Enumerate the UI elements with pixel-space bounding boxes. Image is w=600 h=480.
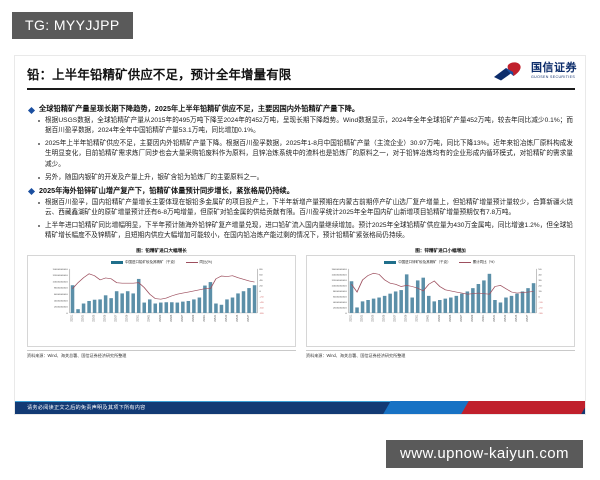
- chart-canvas: 0200000000400000000600000000800000000100…: [29, 266, 294, 340]
- svg-text:30: 30: [538, 279, 542, 281]
- chart-title: 图：铅精矿进口大幅增长: [27, 248, 296, 254]
- chart-plot-area: 中国进口铅矿砂及其精矿（千克） 同比(%) 020000000040000000…: [27, 255, 296, 347]
- svg-text:2024-11: 2024-11: [203, 314, 206, 321]
- presentation-slide: 铅：上半年铅精矿供应不足，预计全年增量有限 国信证券 GUOSEN SECURI…: [14, 55, 586, 415]
- bullet-text: 另外，随国内银矿的开发及产量上升，银矿含铅为铅炼厂的主要原料之一。: [45, 173, 263, 183]
- svg-text:40: 40: [538, 274, 542, 276]
- dot-bullet-icon: [38, 120, 40, 122]
- svg-text:2023-03: 2023-03: [92, 314, 95, 322]
- bottom-watermark: www.upnow-kaiyun.com: [386, 440, 583, 468]
- svg-text:-20: -20: [259, 296, 264, 298]
- svg-text:2024-05: 2024-05: [169, 314, 172, 322]
- logo-wordmark: 国信证券 GUOSEN SECURITIES: [531, 63, 577, 80]
- svg-text:2024-03: 2024-03: [437, 314, 440, 322]
- svg-text:800000000: 800000000: [333, 290, 347, 292]
- chart-source: 资料来源：Wind、海关总署、国信证券经济研究所整理: [306, 350, 575, 359]
- title-divider: [27, 88, 575, 90]
- svg-text:2023-11: 2023-11: [415, 314, 418, 321]
- legend-swatch-icon: [384, 261, 396, 264]
- svg-text:2024-01: 2024-01: [426, 314, 429, 322]
- dot-bullet-icon: [38, 177, 40, 179]
- svg-text:600000000: 600000000: [54, 293, 68, 295]
- svg-text:-80: -80: [259, 312, 264, 314]
- svg-text:-30: -30: [538, 312, 543, 314]
- dot-bullet-icon: [38, 202, 40, 204]
- logo-name-en: GUOSEN SECURITIES: [531, 76, 577, 80]
- svg-text:2025-03: 2025-03: [225, 314, 228, 322]
- svg-text:200000000: 200000000: [54, 306, 68, 308]
- slide-header: 铅：上半年铅精矿供应不足，预计全年增量有限 国信证券 GUOSEN SECURI…: [15, 56, 585, 94]
- bullet-text: 根据USGS数据，全球铅精矿产量从2015年的495万吨下降至2024年的452…: [45, 116, 573, 136]
- legend-swatch-icon: [459, 262, 471, 263]
- svg-text:2022-11: 2022-11: [349, 314, 352, 321]
- svg-text:2023-09: 2023-09: [404, 314, 407, 322]
- svg-text:2024-07: 2024-07: [460, 314, 463, 322]
- svg-text:80: 80: [259, 268, 263, 270]
- chart-legend: 中国进口铅矿砂及其精矿（千克） 同比(%): [29, 260, 294, 265]
- legend-item-line: 同比(%): [186, 260, 212, 265]
- svg-text:0: 0: [66, 312, 68, 314]
- bullet-primary: 2025年海外铅锌矿山增产复产下，铅精矿体量预计同步增长，紧张格局仍持续。: [29, 186, 573, 196]
- legend-item-bars: 中国进口锌矿砂及其精矿（千克）: [384, 260, 451, 265]
- svg-text:800000000: 800000000: [54, 287, 68, 289]
- chart-card-lead: 图：铅精矿进口大幅增长 中国进口铅矿砂及其精矿（千克） 同比(%) 020000…: [27, 248, 296, 359]
- bullet-text: 上半年进口铅精矿同比增幅明显，下半年预计随海外铅锌矿复产增量兑现，进口铅矿流入国…: [45, 221, 573, 241]
- bullet-text: 全球铅精矿产量呈现长期下降趋势，2025年上半年铅精矿供应不足，主要因国内外铅精…: [39, 104, 359, 114]
- dot-bullet-icon: [38, 143, 40, 145]
- diamond-bullet-icon: [28, 188, 35, 195]
- svg-text:600000000: 600000000: [333, 296, 347, 298]
- bullet-secondary: 上半年进口铅精矿同比增幅明显，下半年预计随海外铅锌矿复产增量兑现，进口铅矿流入国…: [38, 221, 573, 241]
- svg-text:200000000: 200000000: [333, 307, 347, 309]
- svg-text:2023-07: 2023-07: [393, 314, 396, 322]
- svg-text:0: 0: [538, 296, 540, 298]
- svg-text:2024-05: 2024-05: [448, 314, 451, 322]
- svg-text:2024-03: 2024-03: [158, 314, 161, 322]
- bullet-text: 根据百川盈孚，国内铅精矿产量增长主要体现在银铅多金属矿的项目投产上，下半年新增产…: [45, 198, 573, 218]
- svg-text:2023-09: 2023-09: [125, 314, 128, 322]
- legend-item-bars: 中国进口铅矿砂及其精矿（千克）: [111, 260, 178, 265]
- footer-disclaimer: 请务必阅读正文之后的免责声明及其项下所有内容: [27, 404, 146, 411]
- svg-text:20: 20: [259, 285, 263, 287]
- svg-text:2024-01: 2024-01: [147, 314, 150, 322]
- bullet-primary: 全球铅精矿产量呈现长期下降趋势，2025年上半年铅精矿供应不足，主要因国内外铅精…: [29, 104, 573, 114]
- screenshot-root: TG: MYYJJPP 铅：上半年铅精矿供应不足，预计全年增量有限 国信证券 G…: [0, 0, 600, 480]
- footer-red-shape: [461, 401, 585, 414]
- slide-footer: 请务必阅读正文之后的免责声明及其项下所有内容: [15, 401, 585, 414]
- svg-text:2025-03: 2025-03: [504, 314, 507, 322]
- svg-text:2023-05: 2023-05: [382, 314, 385, 322]
- legend-label: 中国进口锌矿砂及其精矿（千克）: [398, 260, 451, 265]
- svg-text:2024-09: 2024-09: [192, 314, 195, 322]
- bullet-secondary: 根据百川盈孚，国内铅精矿产量增长主要体现在银铅多金属矿的项目投产上，下半年新增产…: [38, 198, 573, 218]
- guosen-logo-icon: [493, 62, 527, 81]
- svg-text:2023-01: 2023-01: [360, 314, 363, 322]
- charts-row: 图：铅精矿进口大幅增长 中国进口铅矿砂及其精矿（千克） 同比(%) 020000…: [15, 244, 585, 359]
- svg-text:1400000000: 1400000000: [332, 274, 348, 276]
- page-title: 铅：上半年铅精矿供应不足，预计全年增量有限: [27, 65, 291, 83]
- svg-text:10: 10: [538, 290, 542, 292]
- svg-text:0: 0: [345, 312, 347, 314]
- chart-card-zinc: 图：锌精矿进口小幅增加 中国进口锌矿砂及其精矿（千克） 累计同比（%） 0200…: [306, 248, 575, 359]
- svg-text:20: 20: [538, 285, 542, 287]
- svg-text:-40: -40: [259, 301, 264, 303]
- bullet-secondary: 2025年上半年铅精矿供应不足，主要因内外铅精矿产量下降。根据百川盈孚数据，20…: [38, 139, 573, 169]
- diamond-bullet-icon: [28, 106, 35, 113]
- chart-canvas: 0200000000400000000600000000800000000100…: [308, 266, 573, 340]
- dot-bullet-icon: [38, 225, 40, 227]
- legend-label: 累计同比（%）: [473, 260, 497, 265]
- svg-text:2025-05: 2025-05: [236, 314, 239, 322]
- bullet-secondary: 另外，随国内银矿的开发及产量上升，银矿含铅为铅炼厂的主要原料之一。: [38, 173, 573, 183]
- svg-text:2023-05: 2023-05: [103, 314, 106, 322]
- svg-text:-10: -10: [538, 301, 543, 303]
- svg-text:2024-11: 2024-11: [482, 314, 485, 321]
- svg-text:2024-07: 2024-07: [181, 314, 184, 322]
- bullet-secondary: 根据USGS数据，全球铅精矿产量从2015年的495万吨下降至2024年的452…: [38, 116, 573, 136]
- legend-swatch-icon: [111, 261, 123, 264]
- svg-text:1000000000: 1000000000: [332, 285, 348, 287]
- svg-text:1200000000: 1200000000: [53, 274, 69, 276]
- brand-logo: 国信证券 GUOSEN SECURITIES: [493, 62, 577, 81]
- chart-legend: 中国进口锌矿砂及其精矿（千克） 累计同比（%）: [308, 260, 573, 265]
- svg-text:1600000000: 1600000000: [332, 268, 348, 270]
- chart-source: 资料来源：Wind、海关总署、国信证券经济研究所整理: [27, 350, 296, 359]
- top-watermark: TG: MYYJJPP: [12, 12, 133, 39]
- svg-text:-20: -20: [538, 307, 543, 309]
- svg-text:40: 40: [259, 279, 263, 281]
- svg-text:2025-01: 2025-01: [214, 314, 217, 322]
- svg-text:2022-11: 2022-11: [70, 314, 73, 321]
- svg-text:-60: -60: [259, 307, 264, 309]
- svg-text:1200000000: 1200000000: [332, 279, 348, 281]
- svg-text:1000000000: 1000000000: [53, 281, 69, 283]
- svg-text:50: 50: [538, 268, 542, 270]
- svg-text:2025-05: 2025-05: [515, 314, 518, 322]
- legend-item-line: 累计同比（%）: [459, 260, 497, 265]
- svg-text:2023-03: 2023-03: [371, 314, 374, 322]
- legend-label: 中国进口铅矿砂及其精矿（千克）: [125, 260, 178, 265]
- legend-label: 同比(%): [200, 260, 212, 265]
- logo-name-cn: 国信证券: [531, 63, 577, 74]
- svg-text:2023-01: 2023-01: [81, 314, 84, 322]
- chart-title: 图：锌精矿进口小幅增加: [306, 248, 575, 254]
- svg-text:2023-11: 2023-11: [136, 314, 139, 321]
- svg-text:2025-07: 2025-07: [247, 314, 250, 322]
- bullet-text: 2025年上半年铅精矿供应不足，主要因内外铅精矿产量下降。根据百川盈孚数据，20…: [45, 139, 573, 169]
- svg-text:400000000: 400000000: [333, 301, 347, 303]
- slide-body: 全球铅精矿产量呈现长期下降趋势，2025年上半年铅精矿供应不足，主要因国内外铅精…: [15, 94, 585, 241]
- svg-text:0: 0: [259, 290, 261, 292]
- svg-text:2024-09: 2024-09: [471, 314, 474, 322]
- legend-swatch-icon: [186, 262, 198, 263]
- svg-text:1400000000: 1400000000: [53, 268, 69, 270]
- svg-text:60: 60: [259, 274, 263, 276]
- bullet-text: 2025年海外铅锌矿山增产复产下，铅精矿体量预计同步增长，紧张格局仍持续。: [39, 186, 294, 196]
- chart-plot-area: 中国进口锌矿砂及其精矿（千克） 累计同比（%） 0200000000400000…: [306, 255, 575, 347]
- svg-text:2025-01: 2025-01: [493, 314, 496, 322]
- svg-text:2023-07: 2023-07: [114, 314, 117, 322]
- svg-text:2025-07: 2025-07: [526, 314, 529, 322]
- svg-text:400000000: 400000000: [54, 300, 68, 302]
